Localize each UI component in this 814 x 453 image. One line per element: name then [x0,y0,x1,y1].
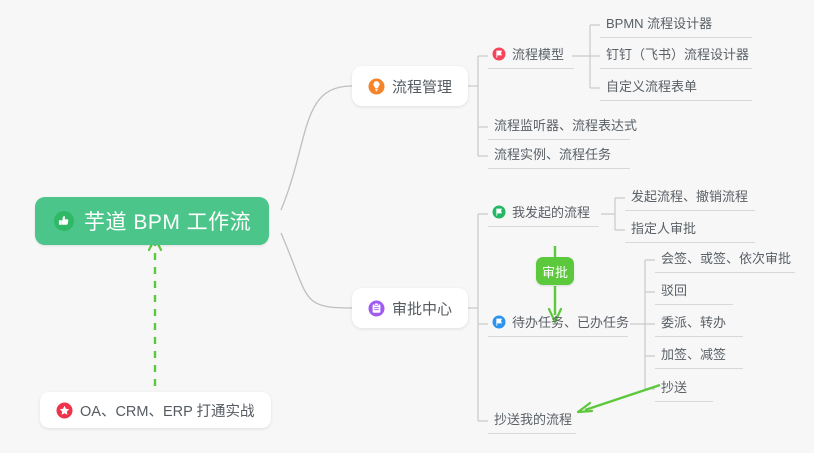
lightbulb-icon [368,78,385,95]
node-add-remove-sign-label: 加签、减签 [661,344,726,363]
clipboard-icon [368,300,385,317]
flag-icon [492,315,506,329]
node-assignee-approve-label: 指定人审批 [631,218,696,237]
node-add-remove-sign[interactable]: 加签、减签 [655,343,743,369]
node-custom-form-label: 自定义流程表单 [606,76,697,95]
link-cc-arrowhead [578,403,592,412]
node-process-model[interactable]: 流程模型 [488,43,574,69]
node-process-listener-label: 流程监听器、流程表达式 [494,115,637,134]
badge-approval-label: 审批 [542,262,568,281]
node-cc[interactable]: 抄送 [655,376,713,402]
mindmap-canvas: 芋道 BPM 工作流 流程管理 流程模型 BPMN 流程设计器 钉钉（飞书）流程… [0,0,814,453]
node-cc-label: 抄送 [661,377,687,396]
link-cc-to-ccmine [585,385,660,410]
root-label: 芋道 BPM 工作流 [84,206,251,236]
node-todo-done-label: 待办任务、已办任务 [512,312,629,331]
node-start-revoke-label: 发起流程、撤销流程 [631,186,748,205]
link-root-to-process-management [281,86,352,210]
node-custom-form[interactable]: 自定义流程表单 [600,75,752,101]
node-integration-practice[interactable]: OA、CRM、ERP 打通实战 [40,392,271,428]
node-cc-to-me-label: 抄送我的流程 [494,409,572,428]
node-integration-practice-label: OA、CRM、ERP 打通实战 [80,400,255,421]
node-my-started[interactable]: 我发起的流程 [488,201,599,227]
node-approval-center[interactable]: 审批中心 [352,288,468,328]
node-reject-label: 驳回 [661,280,687,299]
star-icon [56,402,73,419]
badge-approval[interactable]: 审批 [536,257,574,285]
node-dingtalk-designer-label: 钉钉（飞书）流程设计器 [606,44,749,63]
node-process-management[interactable]: 流程管理 [352,66,468,106]
thumbs-up-icon [53,210,75,232]
node-process-listener[interactable]: 流程监听器、流程表达式 [488,114,630,140]
node-process-instance[interactable]: 流程实例、流程任务 [488,143,630,169]
node-countersign-label: 会签、或签、依次审批 [661,248,791,267]
node-reject[interactable]: 驳回 [655,279,733,305]
node-my-started-label: 我发起的流程 [512,202,590,221]
node-dingtalk-designer[interactable]: 钉钉（飞书）流程设计器 [600,43,752,69]
node-process-management-label: 流程管理 [392,76,452,97]
node-delegate-transfer-label: 委派、转办 [661,312,726,331]
node-delegate-transfer[interactable]: 委派、转办 [655,311,743,337]
node-bpmn-designer[interactable]: BPMN 流程设计器 [600,12,752,38]
link-root-to-approval-center [281,233,352,308]
node-start-revoke[interactable]: 发起流程、撤销流程 [625,185,755,211]
node-assignee-approve[interactable]: 指定人审批 [625,217,755,243]
node-approval-center-label: 审批中心 [392,298,452,319]
flag-icon [492,205,506,219]
node-process-instance-label: 流程实例、流程任务 [494,144,611,163]
node-todo-done[interactable]: 待办任务、已办任务 [488,311,628,337]
node-bpmn-designer-label: BPMN 流程设计器 [606,13,712,32]
node-cc-to-me[interactable]: 抄送我的流程 [488,408,576,434]
node-countersign[interactable]: 会签、或签、依次审批 [655,247,795,273]
root-node[interactable]: 芋道 BPM 工作流 [35,197,269,245]
flag-icon [492,47,506,61]
node-process-model-label: 流程模型 [512,44,564,63]
